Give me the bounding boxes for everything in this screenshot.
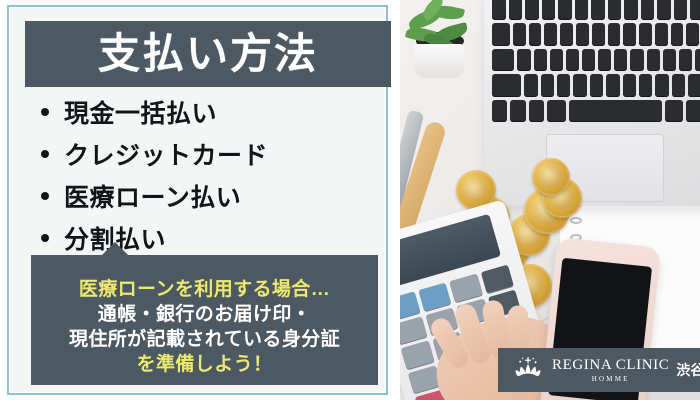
- panel-frame: 支払い方法 現金一括払い クレジットカード 医療ローン払い 分: [7, 5, 388, 395]
- flatlay-photo: REGINA CLINIC HOMME 渋谷院: [400, 0, 700, 400]
- callout-line-1: 医療ローンを利用する場合…: [31, 277, 378, 302]
- lotus-crown-icon: [508, 355, 548, 385]
- clinic-branch: 渋谷院: [676, 360, 700, 380]
- list-item-label: 現金一括払い: [64, 94, 217, 130]
- clinic-logo-text: REGINA CLINIC HOMME: [552, 358, 669, 383]
- callout-line-4: を準備しよう！: [31, 352, 378, 377]
- callout-box: 医療ローンを利用する場合… 通帳・銀行のお届け印・ 現住所が記載されている身分証…: [31, 255, 378, 385]
- list-item: クレジットカード: [41, 133, 381, 175]
- plant-pot: [414, 44, 464, 78]
- payment-methods-list: 現金一括払い クレジットカード 医療ローン払い 分割払い: [41, 91, 381, 259]
- callout-text: 医療ローンを利用する場合… 通帳・銀行のお届け印・ 現住所が記載されている身分証…: [31, 277, 378, 377]
- page-title: 支払い方法: [98, 33, 318, 75]
- potted-plant: [406, 4, 476, 80]
- laptop: [484, 0, 700, 206]
- clinic-name: REGINA CLINIC: [552, 358, 669, 373]
- list-item-label: 医療ローン払い: [64, 178, 241, 214]
- list-item: 分割払い: [41, 217, 381, 259]
- gold-coin: [532, 158, 570, 196]
- list-item: 医療ローン払い: [41, 175, 381, 217]
- list-item: 現金一括払い: [41, 91, 381, 133]
- callout-line-3: 現住所が記載されている身分証: [31, 327, 378, 352]
- bullet-dot-icon: [41, 150, 49, 158]
- slide-canvas: 支払い方法 現金一括払い クレジットカード 医療ローン払い 分: [0, 0, 700, 400]
- callout-arrow-icon: [101, 242, 129, 256]
- left-content-panel: 支払い方法 現金一括払い クレジットカード 医療ローン払い 分: [0, 0, 395, 400]
- callout-line-2: 通帳・銀行のお届け印・: [31, 302, 378, 327]
- bullet-dot-icon: [41, 234, 49, 242]
- bullet-dot-icon: [41, 108, 49, 116]
- clinic-sub-name: HOMME: [592, 376, 630, 383]
- laptop-keyboard: [492, 0, 700, 122]
- page-title-bar: 支払い方法: [25, 21, 391, 87]
- bullet-dot-icon: [41, 192, 49, 200]
- list-item-label: クレジットカード: [64, 136, 268, 172]
- clinic-logo-bar: REGINA CLINIC HOMME 渋谷院: [498, 348, 700, 392]
